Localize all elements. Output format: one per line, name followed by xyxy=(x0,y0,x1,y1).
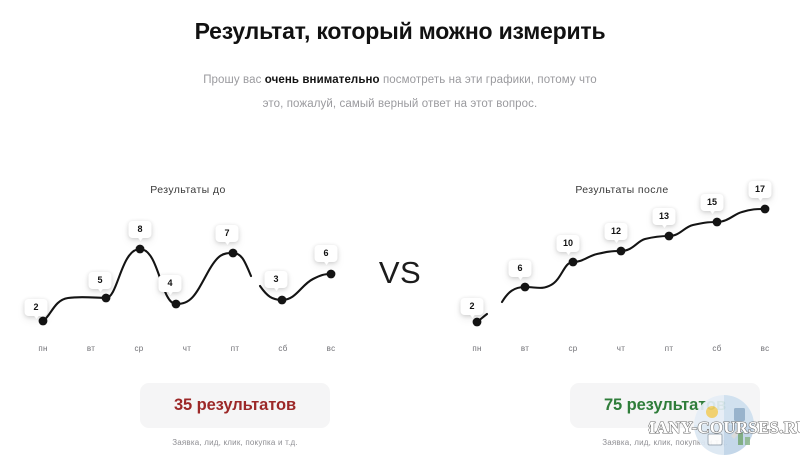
axis-tick: вс xyxy=(327,344,336,353)
axis-tick: пн xyxy=(472,344,481,353)
data-point xyxy=(761,205,770,214)
value-bubble: 6 xyxy=(315,245,338,262)
vs-label: VS xyxy=(0,255,800,291)
value-bubble: 2 xyxy=(461,298,484,315)
subtitle: Прошу вас очень внимательно посмотреть н… xyxy=(200,68,600,117)
subtitle-emphasis: очень внимательно xyxy=(265,74,380,86)
chart-title-before: Результаты до xyxy=(18,184,358,196)
data-point xyxy=(172,300,181,309)
data-point xyxy=(39,317,48,326)
result-badge-after: 75 результатов xyxy=(570,383,760,428)
axis-tick: ср xyxy=(134,344,143,353)
value-bubble: 3 xyxy=(265,271,288,288)
result-caption-before: Заявка, лид, клик, покупка и т.д. xyxy=(90,438,380,447)
axis-tick: вт xyxy=(521,344,529,353)
data-point xyxy=(136,245,145,254)
result-caption-after: Заявка, лид, клик, покупка и т.д. xyxy=(520,438,800,447)
value-bubble: 12 xyxy=(605,223,628,240)
slide-root: Результат, который можно измерить Прошу … xyxy=(0,0,800,459)
x-axis-after: пн вт ср чт пт сб вс xyxy=(452,344,792,364)
value-bubble: 15 xyxy=(701,194,724,211)
value-bubble: 17 xyxy=(749,181,772,198)
data-point xyxy=(102,294,111,303)
x-axis-before: пн вт ср чт пт сб вс xyxy=(18,344,358,364)
page-title: Результат, который можно измерить xyxy=(0,18,800,46)
axis-tick: чт xyxy=(183,344,191,353)
axis-tick: пт xyxy=(231,344,240,353)
axis-tick: чт xyxy=(617,344,625,353)
subtitle-part-1: Прошу вас xyxy=(203,74,265,86)
axis-tick: сб xyxy=(712,344,721,353)
result-badge-before: 35 результатов xyxy=(140,383,330,428)
value-bubble: 13 xyxy=(653,208,676,225)
data-point xyxy=(278,296,287,305)
result-block-before: 35 результатов Заявка, лид, клик, покупк… xyxy=(90,383,380,447)
header: Результат, который можно измерить Прошу … xyxy=(0,0,800,117)
axis-tick: сб xyxy=(278,344,287,353)
value-bubble: 10 xyxy=(557,235,580,252)
axis-tick: пт xyxy=(665,344,674,353)
axis-tick: ср xyxy=(568,344,577,353)
value-bubble: 8 xyxy=(129,221,152,238)
data-point xyxy=(713,218,722,227)
axis-tick: вт xyxy=(87,344,95,353)
value-bubble: 7 xyxy=(216,225,239,242)
data-point xyxy=(473,318,482,327)
result-block-after: 75 результатов Заявка, лид, клик, покупк… xyxy=(520,383,800,447)
value-bubble: 6 xyxy=(509,260,532,277)
value-bubble: 2 xyxy=(25,299,48,316)
axis-tick: пн xyxy=(38,344,47,353)
axis-tick: вс xyxy=(761,344,770,353)
value-bubble: 4 xyxy=(159,275,182,292)
chart-title-after: Результаты после xyxy=(452,184,792,196)
value-bubble: 5 xyxy=(89,272,112,289)
data-point xyxy=(665,232,674,241)
